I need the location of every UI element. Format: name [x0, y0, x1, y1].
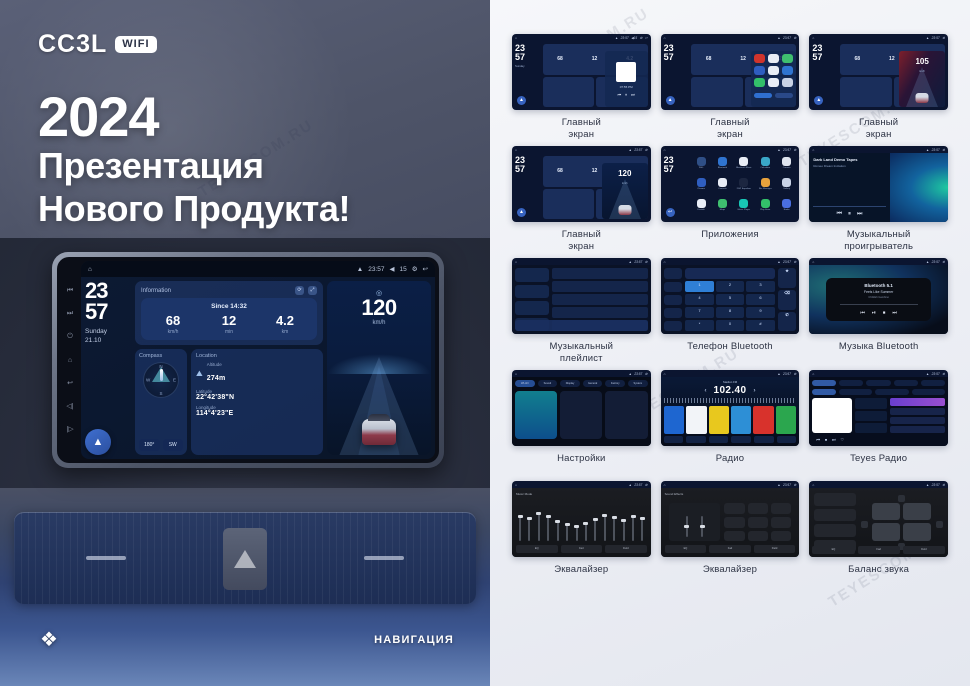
- stat-value: 68: [557, 168, 563, 174]
- next-icon[interactable]: ⏭: [631, 92, 635, 97]
- backspace-icon[interactable]: ⌫: [778, 290, 797, 310]
- app-icon[interactable]: [754, 66, 765, 75]
- volume-up-key[interactable]: |▷: [66, 426, 73, 433]
- sidebar-item[interactable]: [515, 268, 549, 282]
- head-unit-side-keys[interactable]: ⏮ ⏭ ⏻ ⌂ ↩ ◁| |▷: [59, 261, 81, 459]
- grid-cell[interactable]: ⌂▲23:57⚙ 23 57 ▲ 68 12 4.2: [809, 34, 948, 140]
- app-label: Gallery: [783, 188, 790, 190]
- screenshot-home-nav-red[interactable]: ⌂▲23:57⚙ 23 57 ▲ 68 12 4.2: [809, 34, 948, 110]
- app-label: Camera: [783, 167, 791, 169]
- information-actions[interactable]: ⟳ ⤢: [295, 286, 317, 295]
- home-icon: ⌂: [515, 483, 517, 487]
- head-unit-screen[interactable]: ⌂ ▲ 23:57 ◀ 15 ⚙ ↩ 23 57: [81, 261, 435, 459]
- tab[interactable]: [921, 380, 945, 386]
- grid-cell[interactable]: ⌂▲23:57⚙ Музыкальный плейлист: [512, 258, 651, 364]
- equalizer-tabs[interactable]: EQFadField: [516, 545, 647, 553]
- radio-toolbar[interactable]: [664, 436, 797, 443]
- preset-station[interactable]: [686, 406, 706, 434]
- player-controls[interactable]: ⏮⏸⏭: [813, 211, 885, 218]
- left-arrow[interactable]: [861, 521, 868, 528]
- star-icon[interactable]: ★: [778, 268, 797, 288]
- station-row[interactable]: [890, 417, 945, 424]
- grid-cell[interactable]: ⌂▲23:57⚙ Dark Land Demo Tapes Romeo Drea…: [809, 146, 948, 252]
- app-item[interactable]: Gallery: [777, 178, 796, 197]
- track-row[interactable]: [552, 307, 647, 318]
- prev-icon[interactable]: ⏮: [860, 310, 865, 316]
- grid-cell[interactable]: ⌂▲23:57◀15⚙↩ 23 57 Sunday ▲ 68 12: [512, 34, 651, 140]
- prev-station-icon[interactable]: ‹: [704, 388, 706, 394]
- dial-key[interactable]: 8: [716, 307, 745, 318]
- altitude-value: 274m: [207, 375, 226, 382]
- gear-icon[interactable]: ⚙: [412, 265, 418, 273]
- sidebar-item[interactable]: [664, 308, 683, 318]
- stop-icon[interactable]: ⏹: [825, 437, 827, 442]
- sidebar-item[interactable]: [664, 295, 683, 305]
- app-icon[interactable]: [768, 78, 779, 87]
- thumb-nav-widget[interactable]: 105 km/h: [899, 51, 945, 107]
- station-list[interactable]: [890, 398, 945, 433]
- stat-value: 68: [706, 56, 712, 62]
- eq-icon[interactable]: [731, 436, 751, 443]
- back-button[interactable]: ↩: [666, 208, 675, 217]
- grid-cell[interactable]: ⌂▲23:57⚙ 23 57 ▲ 68 12 4.2: [661, 34, 800, 140]
- filter[interactable]: [912, 389, 945, 395]
- effect-buttons[interactable]: [724, 503, 791, 541]
- settings-tiles[interactable]: [515, 391, 648, 439]
- expand-icon[interactable]: ⤢: [308, 286, 317, 295]
- list-icon[interactable]: [709, 436, 729, 443]
- bluetooth-music-screen: Bluetooth 5.1 Feels Like Summer Childish…: [809, 265, 948, 334]
- caption: Главный экран: [859, 117, 898, 140]
- equalizer-screen: Music Mode EQFadField: [512, 488, 651, 557]
- tab[interactable]: [894, 380, 918, 386]
- effect-button[interactable]: [724, 517, 744, 528]
- hazard-light-button[interactable]: [223, 528, 267, 590]
- thumb-nav-widget[interactable]: 120 km/h: [602, 163, 648, 219]
- tab-eq[interactable]: EQ: [665, 545, 707, 553]
- tab-fader[interactable]: Fad: [858, 546, 900, 554]
- preset-station[interactable]: [753, 406, 773, 434]
- prev-key[interactable]: ⏮: [67, 287, 73, 294]
- band-slider[interactable]: [613, 516, 615, 541]
- navigation-button[interactable]: ▲: [517, 96, 526, 105]
- front-arrow[interactable]: [898, 495, 905, 502]
- pause-icon[interactable]: ⏸: [848, 211, 851, 218]
- filter[interactable]: [875, 389, 908, 395]
- time: 23:57: [932, 260, 940, 264]
- frequency-scale[interactable]: [664, 398, 797, 403]
- navigation-widget[interactable]: ◎ 120 km/h: [327, 281, 431, 455]
- speaker-fl[interactable]: [872, 503, 900, 520]
- station-row-active[interactable]: [890, 398, 945, 405]
- app-item[interactable]: Play Store: [756, 199, 775, 218]
- time: 23:57: [932, 372, 940, 376]
- play-pause-icon[interactable]: ⏯: [872, 310, 876, 316]
- effect-button[interactable]: [748, 503, 768, 514]
- screenshot-home-apps[interactable]: ⌂▲23:57⚙ 23 57 ▲ 68 12 4.2: [661, 34, 800, 110]
- progress-bar[interactable]: [840, 304, 918, 305]
- stat-speed-value: 68: [145, 314, 201, 327]
- band-sliders[interactable]: [516, 499, 647, 545]
- band-slider[interactable]: [519, 515, 521, 542]
- navigation-button[interactable]: ▲: [85, 429, 111, 455]
- fader-slider[interactable]: [686, 516, 688, 537]
- wifi-icon: ▲: [777, 148, 780, 152]
- app-item[interactable]: Disable: [691, 199, 710, 218]
- sidebar-item[interactable]: [664, 321, 683, 331]
- speed-readout: ◎ 120 km/h: [327, 289, 431, 326]
- screenshot-teyes-radio[interactable]: ⌂▲23:57⚙ ⏮⏹⏭♡: [809, 370, 948, 446]
- screenshot-sound-balance[interactable]: ⌂▲23:57⚙ EQFadField: [809, 481, 948, 557]
- app-icon[interactable]: [782, 66, 793, 75]
- tab-balance[interactable]: Field: [605, 545, 647, 553]
- screenshot-apps[interactable]: ⌂▲23:57⚙ 23 57 ↩ WiFi Bluetooth Bluetoot…: [661, 146, 800, 222]
- preset-item[interactable]: [814, 509, 855, 522]
- top-tabs[interactable]: [812, 380, 945, 386]
- screenshot-bluetooth-phone[interactable]: ⌂▲23:57⚙ 1 2 3 4 5 6: [661, 258, 800, 334]
- effect-button[interactable]: [724, 503, 744, 514]
- prev-icon[interactable]: ⏮: [837, 211, 842, 218]
- car-model: [916, 93, 929, 103]
- home-icon: ⌂: [664, 372, 666, 376]
- app-icon[interactable]: [754, 54, 765, 63]
- app-item[interactable]: Maps: [713, 199, 732, 218]
- app-item[interactable]: Contacts: [713, 178, 732, 197]
- fader-area[interactable]: [665, 499, 796, 545]
- settings-icon[interactable]: [777, 436, 797, 443]
- volume-icon: ◀: [389, 265, 394, 273]
- location-widget[interactable]: Location ⛰ Altitude 274m: [191, 349, 323, 455]
- band-button[interactable]: [664, 436, 684, 443]
- next-station-icon[interactable]: ›: [753, 388, 755, 394]
- preset-item[interactable]: [814, 524, 855, 537]
- app-icon[interactable]: [782, 54, 793, 63]
- album-art: [616, 62, 636, 82]
- tab-active[interactable]: [812, 380, 836, 386]
- progress-bar[interactable]: [813, 206, 885, 207]
- effect-button[interactable]: [771, 503, 791, 514]
- app-item[interactable]: Chrome: [691, 178, 710, 197]
- back-key[interactable]: ↩: [67, 380, 73, 387]
- thumb-status-bar: ⌂▲23:57⚙: [512, 481, 651, 488]
- dial-key[interactable]: 0: [716, 320, 745, 331]
- app-item[interactable]: Music Player: [734, 199, 753, 218]
- app-rail-grid[interactable]: [754, 54, 794, 87]
- sidebar-item[interactable]: [515, 285, 549, 299]
- tab[interactable]: [866, 380, 890, 386]
- equalizer-tabs[interactable]: EQFadField: [665, 545, 796, 553]
- equalizer-tabs[interactable]: EQFadField: [812, 546, 945, 554]
- dial-key[interactable]: 9: [746, 307, 775, 318]
- effect-button[interactable]: [748, 531, 768, 542]
- balance-pad[interactable]: [861, 493, 944, 552]
- caption: Teyes Радио: [850, 453, 907, 475]
- home-icon[interactable]: ⌂: [88, 266, 92, 273]
- settings-tabs[interactable]: WLAN Sound Display General Factory Syste…: [515, 380, 648, 387]
- sidebar-item[interactable]: [664, 268, 683, 278]
- dial-key[interactable]: #: [746, 320, 775, 331]
- navigation-button[interactable]: ▲: [666, 96, 675, 105]
- app-item[interactable]: Bluetooth Music: [734, 157, 753, 176]
- time: 23:57: [783, 483, 791, 487]
- app-item[interactable]: Calculator: [756, 157, 775, 176]
- band-slider[interactable]: [623, 519, 625, 542]
- rail-button[interactable]: [775, 93, 793, 98]
- gear-icon: ⚙: [942, 372, 945, 376]
- band-slider[interactable]: [594, 518, 596, 542]
- band-slider[interactable]: [566, 523, 568, 541]
- time: 23:57: [932, 148, 940, 152]
- stat-distance-unit: km: [257, 329, 313, 335]
- speaker-rl[interactable]: [872, 523, 900, 540]
- app-item[interactable]: Camera: [777, 157, 796, 176]
- band-slider[interactable]: [547, 515, 549, 541]
- dial-key[interactable]: 1: [685, 281, 714, 292]
- app-label: Bluetooth: [718, 167, 727, 169]
- phone-actions[interactable]: ★ ⌫ ✆: [778, 268, 797, 331]
- loc-icon[interactable]: [754, 436, 774, 443]
- player-controls[interactable]: ⏮⏹⏭♡: [812, 436, 945, 443]
- number-display[interactable]: [685, 268, 775, 279]
- tab-fader[interactable]: Fad: [561, 545, 603, 553]
- track-row[interactable]: [552, 294, 647, 305]
- dial-key[interactable]: 6: [746, 294, 775, 305]
- stat-value: 12: [592, 56, 598, 62]
- grid-cell[interactable]: ⌂▲23:57⚙ 1 2 3 4 5 6: [661, 258, 800, 364]
- grid-cell[interactable]: ⌂▲23:57⚙ WLAN Sound Display General Fact…: [512, 370, 651, 475]
- time: 23:57: [634, 483, 642, 487]
- app-icon[interactable]: [768, 66, 779, 75]
- prev-icon[interactable]: ⏮: [816, 437, 820, 442]
- tab-balance[interactable]: Field: [754, 545, 796, 553]
- thumb-app-screen: 23 57 ↩ WiFi Bluetooth Bluetooth Music C…: [661, 153, 800, 222]
- screenshot-equalizer-bands[interactable]: ⌂▲23:57⚙ Music Mode EQFadField: [512, 481, 651, 557]
- volume-down-key[interactable]: ◁|: [66, 403, 73, 410]
- screenshot-radio[interactable]: ⌂▲23:57⚙ Stadion FM ‹ 102.40 ›: [661, 370, 800, 446]
- air-vent: [14, 512, 476, 604]
- prev-icon[interactable]: ⏮: [618, 92, 622, 97]
- thumb-status-bar: ⌂▲23:57⚙: [661, 34, 800, 41]
- app-label: Music Player: [738, 209, 751, 211]
- station-name: Stadion FM: [664, 380, 797, 384]
- effect-button[interactable]: [748, 517, 768, 528]
- app-item[interactable]: Bluetooth: [713, 157, 732, 176]
- player-controls[interactable]: ⏮⏯⏹⏭: [860, 310, 897, 316]
- filter[interactable]: [839, 389, 872, 395]
- gear-icon: ⚙: [645, 483, 648, 487]
- caption: Приложения: [701, 229, 759, 251]
- favorite-icon[interactable]: ♡: [841, 437, 845, 442]
- meta-row: [855, 423, 887, 433]
- thumb-compass-card: [840, 77, 891, 108]
- screenshot-home-media[interactable]: ⌂▲23:57◀15⚙↩ 23 57 Sunday ▲ 68 12: [512, 34, 651, 110]
- track-time: 07:55 PM: [620, 85, 633, 89]
- tab-general[interactable]: General: [583, 380, 603, 387]
- app-grid[interactable]: WiFi Bluetooth Bluetooth Music Calculato…: [688, 153, 799, 222]
- thumb-status-bar: ⌂▲23:57⚙: [809, 34, 948, 41]
- app-icon[interactable]: [782, 78, 793, 87]
- car-model: [618, 205, 631, 215]
- screenshot-playlist[interactable]: ⌂▲23:57⚙: [512, 258, 651, 334]
- home-key[interactable]: ⌂: [68, 357, 72, 364]
- tab-balance[interactable]: Field: [903, 546, 945, 554]
- layers-icon: ❖: [40, 630, 58, 650]
- grid-cell[interactable]: ⌂▲23:57⚙ Sound Effects EQFadField: [661, 481, 800, 586]
- preset-station[interactable]: [776, 406, 796, 434]
- tab-fader[interactable]: Fad: [709, 545, 751, 553]
- app-label: Maps: [720, 209, 725, 211]
- screenshot-music-player[interactable]: ⌂▲23:57⚙ Dark Land Demo Tapes Romeo Drea…: [809, 146, 948, 222]
- speaker-fr[interactable]: [903, 503, 931, 520]
- grid-cell[interactable]: ⌂▲23:57⚙ EQFadField Баланс звука: [809, 481, 948, 586]
- preset-list[interactable]: [814, 493, 855, 552]
- app-icon[interactable]: [754, 78, 765, 87]
- dial-key[interactable]: 4: [685, 294, 714, 305]
- tab-eq[interactable]: EQ: [516, 545, 558, 553]
- app-item[interactable]: File Manager: [756, 178, 775, 197]
- preset-station[interactable]: [664, 406, 684, 434]
- stat-time-value: 12: [201, 314, 257, 327]
- track-row[interactable]: [552, 281, 647, 292]
- screenshot-settings[interactable]: ⌂▲23:57⚙ WLAN Sound Display General Fact…: [512, 370, 651, 446]
- search-icon[interactable]: [686, 436, 706, 443]
- thumb-app-rail[interactable]: [751, 51, 797, 107]
- dial-key[interactable]: *: [685, 320, 714, 331]
- back-icon[interactable]: ↩: [423, 265, 428, 273]
- navigation-button[interactable]: ▲: [517, 208, 526, 217]
- dial-key[interactable]: 2: [716, 281, 745, 292]
- wifi-icon: ▲: [926, 148, 929, 152]
- band-slider[interactable]: [585, 522, 587, 541]
- band-slider[interactable]: [641, 517, 643, 541]
- tuner-row[interactable]: ‹ 102.40 ›: [664, 385, 797, 396]
- screenshot-home-nav[interactable]: ⌂▲23:57⚙ 23 57 ▲ 68 12 4.2: [512, 146, 651, 222]
- grid-cell[interactable]: ⌂▲23:57⚙ 23 57 ↩ WiFi Bluetooth Bluetoot…: [661, 146, 800, 252]
- nav-preview: 120 km/h: [602, 163, 648, 219]
- stop-icon[interactable]: ⏹: [883, 310, 886, 316]
- dial-key[interactable]: 3: [746, 281, 775, 292]
- tab-eq[interactable]: EQ: [812, 546, 854, 554]
- dialpad[interactable]: 1 2 3 4 5 6 7 8 9 * 0 #: [685, 268, 775, 331]
- tile-more[interactable]: [605, 391, 647, 439]
- band-slider[interactable]: [632, 515, 634, 541]
- dial-key[interactable]: 7: [685, 307, 714, 318]
- filter-active[interactable]: [812, 389, 836, 395]
- wifi-icon: ▲: [926, 36, 929, 40]
- media-controls[interactable]: ⏮⏸⏭: [618, 92, 635, 97]
- mini-player-bar[interactable]: [515, 320, 648, 331]
- grid-cell[interactable]: ⌂▲23:57⚙ Stadion FM ‹ 102.40 ›: [661, 370, 800, 475]
- refresh-icon[interactable]: ⟳: [295, 286, 304, 295]
- preset-item[interactable]: [814, 493, 855, 506]
- filter-tabs[interactable]: [812, 389, 945, 395]
- thumb-media-widget[interactable]: 07:55 PM ⏮⏸⏭: [605, 51, 648, 107]
- rail-button[interactable]: [754, 93, 772, 98]
- band-slider[interactable]: [528, 517, 530, 541]
- track-row[interactable]: [552, 268, 647, 279]
- preset-station[interactable]: [709, 406, 729, 434]
- compass-widget[interactable]: Compass N S W E: [135, 349, 187, 455]
- band-slider[interactable]: [604, 514, 606, 542]
- band-slider[interactable]: [538, 512, 540, 541]
- speaker-rr[interactable]: [903, 523, 931, 540]
- tab[interactable]: [839, 380, 863, 386]
- band-slider[interactable]: [576, 525, 578, 542]
- compass-title: Compass: [139, 353, 183, 359]
- screenshot-bluetooth-music[interactable]: ⌂▲23:57⚙ Bluetooth 5.1 Feels Like Summer…: [809, 258, 948, 334]
- tab-system[interactable]: System: [628, 380, 648, 387]
- tile-wifi[interactable]: [515, 391, 557, 439]
- clock-minutes: 57: [85, 302, 131, 323]
- effect-button[interactable]: [771, 531, 791, 542]
- tab-factory[interactable]: Factory: [605, 380, 625, 387]
- app-item[interactable]: Radio: [777, 199, 796, 218]
- app-item[interactable]: DSP Equalizer: [734, 178, 753, 197]
- next-icon[interactable]: ⏭: [857, 211, 862, 218]
- compass-east: E: [173, 378, 176, 383]
- rail-buttons[interactable]: [754, 93, 794, 98]
- information-widget[interactable]: Information ⟳ ⤢ Since 14:32: [135, 281, 323, 345]
- next-key[interactable]: ⏭: [67, 310, 73, 317]
- fader-slider[interactable]: [701, 516, 703, 537]
- station-row[interactable]: [890, 426, 945, 433]
- grid-cell[interactable]: ⌂▲23:57⚙ ⏮⏹⏭♡ Teyes Радио: [809, 370, 948, 475]
- tab-wifi[interactable]: WLAN: [515, 380, 535, 387]
- screenshot-equalizer-fader[interactable]: ⌂▲23:57⚙ Sound Effects EQFadField: [661, 481, 800, 557]
- time: 23:57: [621, 36, 629, 40]
- app-icon[interactable]: [768, 54, 779, 63]
- right-arrow[interactable]: [936, 521, 943, 528]
- dial-key[interactable]: 5: [716, 294, 745, 305]
- station-row[interactable]: [890, 408, 945, 415]
- wifi-badge: WIFI: [115, 36, 156, 53]
- app-item[interactable]: WiFi: [691, 157, 710, 176]
- sidebar-item[interactable]: [515, 301, 549, 315]
- grid-cell[interactable]: ⌂▲23:57⚙ Music Mode EQFadField: [512, 481, 651, 586]
- next-icon[interactable]: ⏭: [892, 310, 897, 316]
- effect-button[interactable]: [771, 517, 791, 528]
- speaker-quadrants[interactable]: [872, 503, 931, 541]
- band-slider[interactable]: [557, 520, 559, 542]
- speed-value: 105: [899, 57, 945, 66]
- effect-button[interactable]: [724, 531, 744, 542]
- fader-sliders[interactable]: [669, 503, 721, 541]
- app-label: Play Store: [760, 209, 770, 211]
- preset-stations[interactable]: [664, 406, 797, 434]
- grid-cell[interactable]: ⌂▲23:57⚙ 23 57 ▲ 68 12 4.2: [512, 146, 651, 252]
- thumb-status-bar: ⌂▲23:57⚙: [512, 370, 651, 377]
- navigation-button[interactable]: ▲: [814, 96, 823, 105]
- tab-sound[interactable]: Sound: [538, 380, 558, 387]
- grid-cell[interactable]: ⌂▲23:57⚙ Bluetooth 5.1 Feels Like Summer…: [809, 258, 948, 364]
- call-icon[interactable]: ✆: [778, 312, 797, 332]
- pause-icon[interactable]: ⏸: [625, 92, 627, 97]
- home-icon: ⌂: [812, 36, 814, 40]
- dialpad-keys[interactable]: 1 2 3 4 5 6 7 8 9 * 0 #: [685, 281, 775, 331]
- gear-icon: ⚙: [793, 148, 796, 152]
- tile-carplay[interactable]: [560, 391, 602, 439]
- tab-display[interactable]: Display: [560, 380, 580, 387]
- compass-readout: 180° SW: [139, 439, 183, 451]
- preset-station[interactable]: [731, 406, 751, 434]
- sidebar-item[interactable]: [664, 282, 683, 292]
- playlist-screen: [512, 265, 651, 334]
- phone-sidebar[interactable]: [664, 268, 683, 331]
- time: 23:57: [783, 148, 791, 152]
- next-icon[interactable]: ⏭: [832, 437, 836, 442]
- power-key[interactable]: ⏻: [67, 333, 73, 340]
- caption: Баланс звука: [848, 564, 909, 586]
